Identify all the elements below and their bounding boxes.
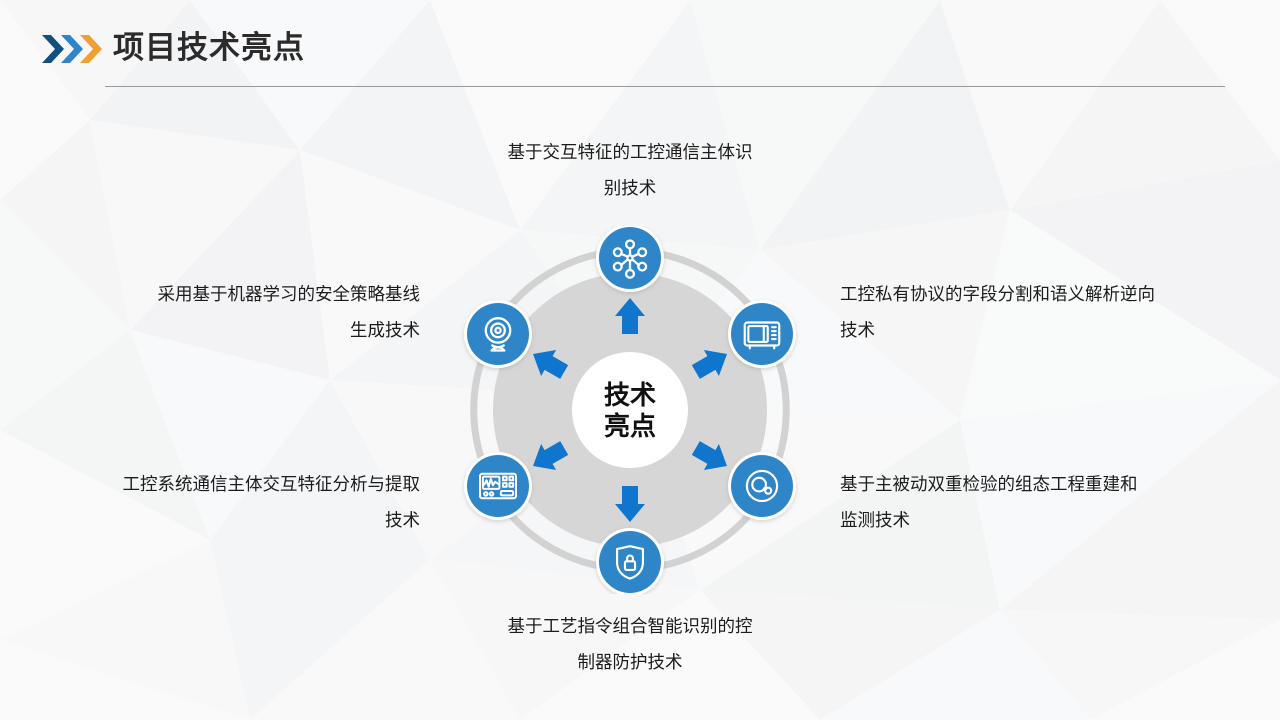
node-bottom[interactable] [596,528,664,594]
node-label-bottom-left: 工控系统通信主体交互特征分析与提取 技术 [40,466,420,538]
slide-header: 项目技术亮点 [0,0,1280,100]
technology-highlights-circular-diagram: 技术 亮点 [446,226,814,594]
node-bottom-left[interactable] [464,452,532,520]
node-top-right[interactable] [728,300,796,368]
node-label-top-right: 工控私有协议的字段分割和语义解析逆向 技术 [840,276,1240,348]
node-top[interactable] [596,226,664,292]
title-divider [105,86,1225,87]
page-title: 项目技术亮点 [113,28,305,68]
center-label-line1: 技术 [604,380,656,410]
node-top-left[interactable] [464,300,532,368]
center-white-disc [572,352,688,468]
node-label-top: 基于交互特征的工控通信主体识 别技术 [430,134,830,206]
node-label-bottom: 基于工艺指令组合智能识别的控 制器防护技术 [430,608,830,680]
chevron-triple-icon [42,33,102,65]
node-bottom-right[interactable] [728,452,796,520]
node-label-bottom-right: 基于主被动双重检验的组态工程重建和 监测技术 [840,466,1240,538]
center-label-line2: 亮点 [604,411,656,441]
node-label-top-left: 采用基于机器学习的安全策略基线 生成技术 [40,276,420,348]
